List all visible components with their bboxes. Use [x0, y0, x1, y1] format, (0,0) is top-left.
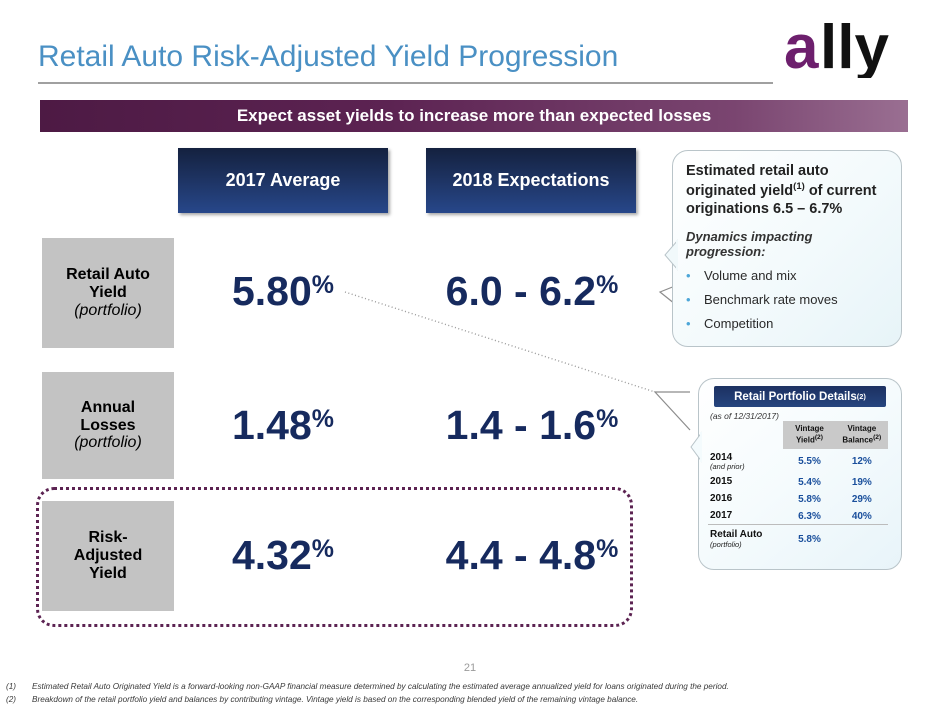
callout-dynamics-label: Dynamics impacting progression: [686, 229, 888, 259]
table-header-vintage-balance: Vintage Balance(2) [836, 421, 888, 449]
value-number: 4.4 - 4.8 [446, 532, 596, 579]
svg-text:a: a [784, 18, 819, 78]
table-header-row: Vintage Yield(2) Vintage Balance(2) [708, 421, 888, 449]
footnote-marker: (1) [6, 681, 32, 694]
value-annual-losses-2018: 1.4 - 1.6% [420, 402, 644, 449]
bullet-icon: • [686, 316, 704, 331]
portfolio-as-of-date: (as of 12/31/2017) [710, 411, 779, 421]
portfolio-table: Vintage Yield(2) Vintage Balance(2) 2014… [708, 421, 888, 550]
page-title: Retail Auto Risk-Adjusted Yield Progress… [38, 40, 618, 74]
bullet-icon: • [686, 292, 704, 307]
title-divider [38, 82, 773, 84]
year-label: 2017 [710, 510, 732, 521]
page-number: 21 [0, 662, 940, 674]
percent-sign: % [596, 535, 618, 564]
percent-sign: % [312, 271, 334, 300]
column-header-2017: 2017 Average [178, 148, 388, 213]
year-label: 2014 [710, 452, 732, 463]
table-cell-year: 2014 (and prior) [708, 449, 783, 473]
row-label-sub: (portfolio) [74, 434, 142, 452]
table-cell-yield: 5.8% [783, 490, 835, 507]
portfolio-title: Retail Portfolio Details(2) [714, 386, 886, 407]
footnotes: (1) Estimated Retail Auto Originated Yie… [6, 681, 936, 706]
banner: Expect asset yields to increase more tha… [40, 100, 908, 132]
callout-bullet-item: • Competition [686, 316, 888, 331]
table-cell-balance: 12% [836, 449, 888, 473]
callout-bullet-item: • Benchmark rate moves [686, 292, 888, 307]
table-cell-year: 2017 [708, 507, 783, 525]
banner-text: Expect asset yields to increase more tha… [237, 106, 711, 126]
header-superscript: (2) [815, 434, 823, 441]
table-cell-total-balance [836, 525, 888, 551]
row-label-retail-auto-yield: Retail Auto Yield (portfolio) [42, 238, 174, 348]
value-retail-auto-yield-2017: 5.80% [178, 268, 388, 315]
callout-bullet-label: Benchmark rate moves [704, 292, 838, 307]
table-row: 2016 5.8% 29% [708, 490, 888, 507]
row-label-line3: Yield [89, 565, 127, 583]
year-label: 2016 [710, 493, 732, 504]
footnote-item: (2) Breakdown of the retail portfolio yi… [6, 694, 936, 706]
table-cell-year: 2015 [708, 473, 783, 490]
table-cell-balance: 29% [836, 490, 888, 507]
percent-sign: % [596, 405, 618, 434]
value-retail-auto-yield-2018: 6.0 - 6.2% [420, 268, 644, 315]
year-sublabel: (and prior) [710, 463, 783, 471]
table-cell-total-yield: 5.8% [783, 525, 835, 551]
callout-content: Estimated retail auto originated yield(1… [686, 162, 888, 331]
footnote-text: Breakdown of the retail portfolio yield … [32, 694, 638, 706]
portfolio-tail-icon [690, 430, 702, 464]
table-row: 2017 6.3% 40% [708, 507, 888, 525]
footnote-marker: (2) [6, 694, 32, 706]
row-label-line2: Yield [89, 284, 127, 302]
callout-heading-superscript: (1) [793, 181, 805, 192]
ally-logo: a lly [784, 18, 904, 78]
total-label: Retail Auto [710, 529, 762, 540]
column-header-2018: 2018 Expectations [426, 148, 636, 213]
value-number: 1.48 [232, 402, 312, 449]
column-header-label: 2018 Expectations [452, 170, 609, 191]
callout-bullet-item: • Volume and mix [686, 268, 888, 283]
header-line2: Yield [796, 436, 815, 445]
callout-estimated-yield: Estimated retail auto originated yield(1… [664, 150, 902, 347]
total-sublabel: (portfolio) [710, 541, 783, 549]
svg-text:lly: lly [820, 18, 889, 78]
percent-sign: % [596, 271, 618, 300]
header-line2: Balance [842, 436, 873, 445]
value-number: 1.4 - 1.6 [446, 402, 596, 449]
year-label: 2015 [710, 476, 732, 487]
portfolio-details-panel: Retail Portfolio Details(2) (as of 12/31… [692, 378, 902, 570]
row-label-line1: Annual [81, 399, 135, 417]
header-superscript: (2) [873, 434, 881, 441]
row-label-sub: (portfolio) [74, 302, 142, 320]
callout-tail-icon [664, 238, 678, 272]
table-cell-yield: 6.3% [783, 507, 835, 525]
table-cell-yield: 5.4% [783, 473, 835, 490]
row-label-risk-adjusted-yield: Risk- Adjusted Yield [42, 501, 174, 611]
table-cell-balance: 40% [836, 507, 888, 525]
value-number: 4.32 [232, 532, 312, 579]
callout-heading: Estimated retail auto originated yield(1… [686, 162, 888, 218]
table-cell-yield: 5.5% [783, 449, 835, 473]
table-row: 2015 5.4% 19% [708, 473, 888, 490]
portfolio-title-text: Retail Portfolio Details [734, 391, 857, 403]
column-header-label: 2017 Average [226, 170, 341, 191]
percent-sign: % [312, 535, 334, 564]
row-label-line1: Retail Auto [66, 266, 150, 284]
table-total-row: Retail Auto (portfolio) 5.8% [708, 525, 888, 551]
value-number: 5.80 [232, 268, 312, 315]
table-cell-balance: 19% [836, 473, 888, 490]
portfolio-title-superscript: (2) [857, 392, 866, 401]
row-label-line1: Risk- [88, 529, 127, 547]
row-label-line2: Losses [80, 417, 135, 435]
percent-sign: % [312, 405, 334, 434]
table-cell-total-label: Retail Auto (portfolio) [708, 525, 783, 551]
connector-portfolio-arrow [655, 392, 690, 430]
callout-bullet-label: Volume and mix [704, 268, 797, 283]
footnote-text: Estimated Retail Auto Originated Yield i… [32, 681, 729, 694]
callout-bullet-label: Competition [704, 316, 773, 331]
row-label-line2: Adjusted [74, 547, 142, 565]
value-risk-adjusted-yield-2018: 4.4 - 4.8% [420, 532, 644, 579]
row-label-annual-losses: Annual Losses (portfolio) [42, 372, 174, 479]
table-header-blank [708, 421, 783, 449]
table-cell-year: 2016 [708, 490, 783, 507]
value-number: 6.0 - 6.2 [446, 268, 596, 315]
table-header-vintage-yield: Vintage Yield(2) [783, 421, 835, 449]
table-row: 2014 (and prior) 5.5% 12% [708, 449, 888, 473]
value-risk-adjusted-yield-2017: 4.32% [178, 532, 388, 579]
header-line1: Vintage [795, 424, 824, 433]
value-annual-losses-2017: 1.48% [178, 402, 388, 449]
footnote-item: (1) Estimated Retail Auto Originated Yie… [6, 681, 936, 694]
header-line1: Vintage [847, 424, 876, 433]
bullet-icon: • [686, 268, 704, 283]
